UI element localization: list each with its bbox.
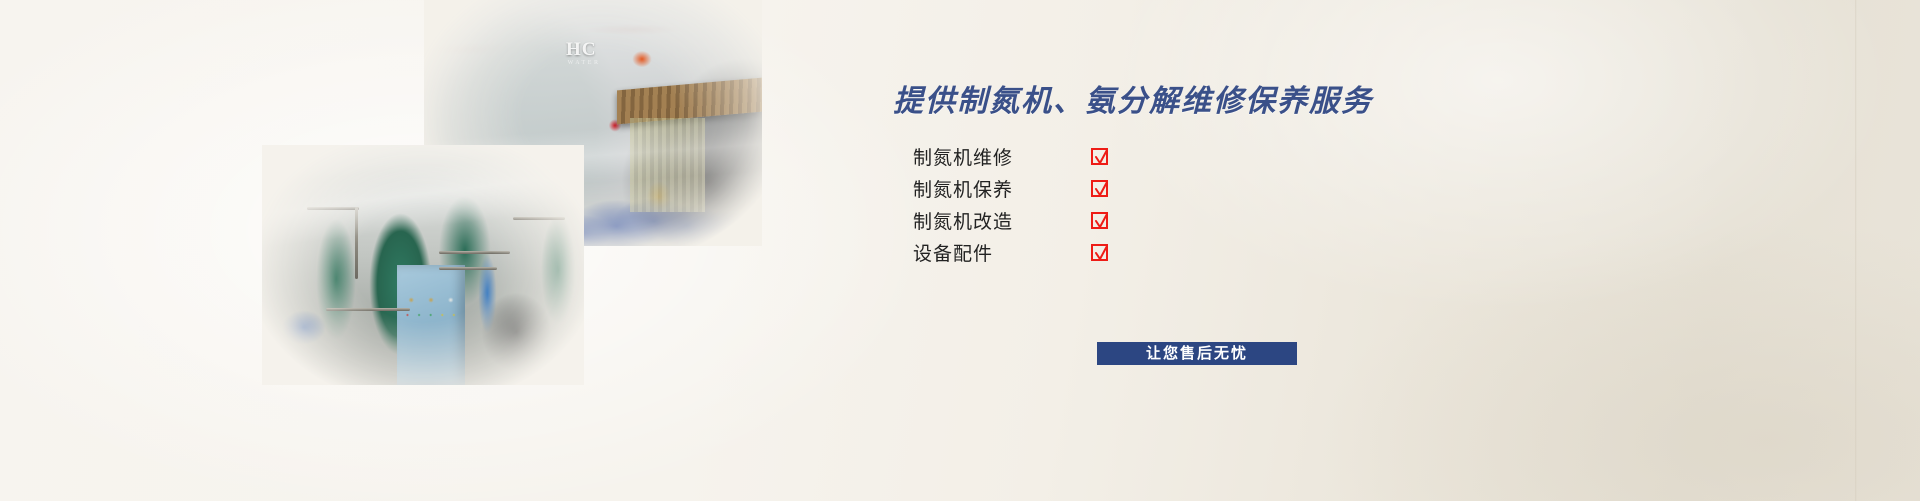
pipe-segment [513, 217, 565, 220]
promo-banner: HC WATER 提供制氮机、氨分解维修保养服务 制氮机维修 [0, 0, 1920, 501]
banner-edge-seam [1855, 0, 1857, 501]
tank-logo-text: HC [566, 39, 597, 61]
feature-label: 设备配件 [913, 239, 1091, 266]
pipe-segment [307, 207, 359, 210]
feature-item-repair: 制氮机维修 [913, 140, 1183, 172]
generator-photo-content [262, 145, 584, 385]
pipe-segment [439, 267, 497, 270]
checked-box-icon [1091, 180, 1108, 197]
pipe-segment [326, 308, 410, 311]
banner-headline: 提供制氮机、氨分解维修保养服务 [893, 76, 1373, 120]
feature-item-maintenance: 制氮机保养 [913, 172, 1183, 204]
pipe-segment [355, 207, 358, 279]
pvc-strip-curtain [630, 118, 704, 211]
checked-box-icon [1091, 212, 1108, 229]
pipework [262, 145, 584, 385]
feature-item-parts: 设备配件 [913, 236, 1183, 268]
feature-label: 制氮机维修 [913, 143, 1091, 170]
feature-list: 制氮机维修 制氮机保养 制氮机改造 设备 [913, 140, 1183, 268]
pipe-segment [439, 251, 510, 254]
feature-item-upgrade: 制氮机改造 [913, 204, 1183, 236]
cta-button[interactable]: 让您售后无忧 [1097, 342, 1297, 365]
checked-box-icon [1091, 244, 1108, 261]
tank-logo-subtext: WATER [568, 60, 601, 66]
checked-box-icon [1091, 148, 1108, 165]
cta-button-label: 让您售后无忧 [1146, 346, 1248, 361]
feature-label: 制氮机保养 [913, 175, 1091, 202]
nitrogen-generator-photo [262, 145, 584, 385]
feature-label: 制氮机改造 [913, 207, 1091, 234]
